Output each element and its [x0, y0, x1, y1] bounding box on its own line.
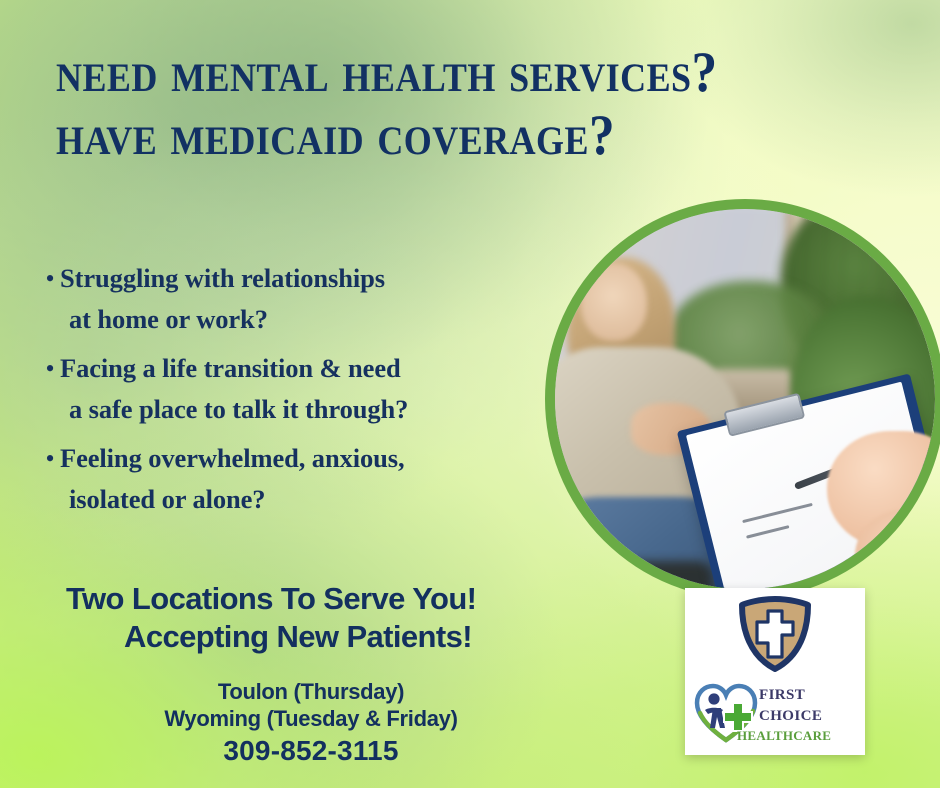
- list-item-line-1: Feeling overwhelmed, anxious,: [60, 443, 405, 473]
- bullet-dot-icon: •: [40, 438, 60, 479]
- photo-client-face: [581, 263, 647, 341]
- cta-line-2: Accepting New Patients!: [66, 618, 566, 656]
- shield-cross-icon: [738, 596, 812, 672]
- location-wyoming: Wyoming (Tuesday & Friday): [56, 705, 566, 732]
- list-item-line-2: at home or work?: [60, 299, 385, 340]
- logo-box: First Choice Healthcare: [685, 588, 865, 755]
- headline-line-2: Have Medicaid Coverage?: [56, 104, 686, 167]
- photo-chair: [583, 561, 713, 589]
- locations-block: Toulon (Thursday) Wyoming (Tuesday & Fri…: [56, 678, 566, 768]
- photo-handwriting-line-2: [746, 525, 789, 539]
- list-item-text: Feeling overwhelmed, anxious, isolated o…: [60, 438, 405, 520]
- headline-line-1: Need Mental Health Services?: [56, 41, 686, 104]
- photo-inner: [555, 209, 935, 589]
- flyer-canvas: Need Mental Health Services? Have Medica…: [0, 0, 940, 788]
- benefits-list: • Struggling with relationships at home …: [40, 258, 540, 528]
- list-item-text: Facing a life transition & need a safe p…: [60, 348, 408, 430]
- therapy-session-photo: [545, 199, 940, 599]
- logo-word-first: First: [759, 682, 859, 703]
- cta-line-1: Two Locations To Serve You!: [66, 580, 566, 618]
- list-item-line-1: Struggling with relationships: [60, 263, 385, 293]
- bullet-dot-icon: •: [40, 348, 60, 389]
- bullet-dot-icon: •: [40, 258, 60, 299]
- list-item: • Struggling with relationships at home …: [40, 258, 540, 340]
- logo-wordmark-row: First Choice Healthcare: [691, 676, 859, 750]
- list-item: • Feeling overwhelmed, anxious, isolated…: [40, 438, 540, 520]
- list-item: • Facing a life transition & need a safe…: [40, 348, 540, 430]
- list-item-line-2: a safe place to talk it through?: [60, 389, 408, 430]
- call-to-action: Two Locations To Serve You! Accepting Ne…: [66, 580, 566, 656]
- list-item-line-1: Facing a life transition & need: [60, 353, 401, 383]
- logo-wordmark: First Choice Healthcare: [759, 682, 859, 745]
- location-toulon: Toulon (Thursday): [56, 678, 566, 705]
- list-item-text: Struggling with relationships at home or…: [60, 258, 385, 340]
- photo-handwriting-line-1: [742, 503, 813, 523]
- logo-word-healthcare: Healthcare: [737, 724, 859, 745]
- headline: Need Mental Health Services? Have Medica…: [56, 41, 756, 167]
- logo-word-choice: Choice: [759, 703, 859, 724]
- list-item-line-2: isolated or alone?: [60, 479, 405, 520]
- phone-number[interactable]: 309-852-3115: [56, 734, 566, 768]
